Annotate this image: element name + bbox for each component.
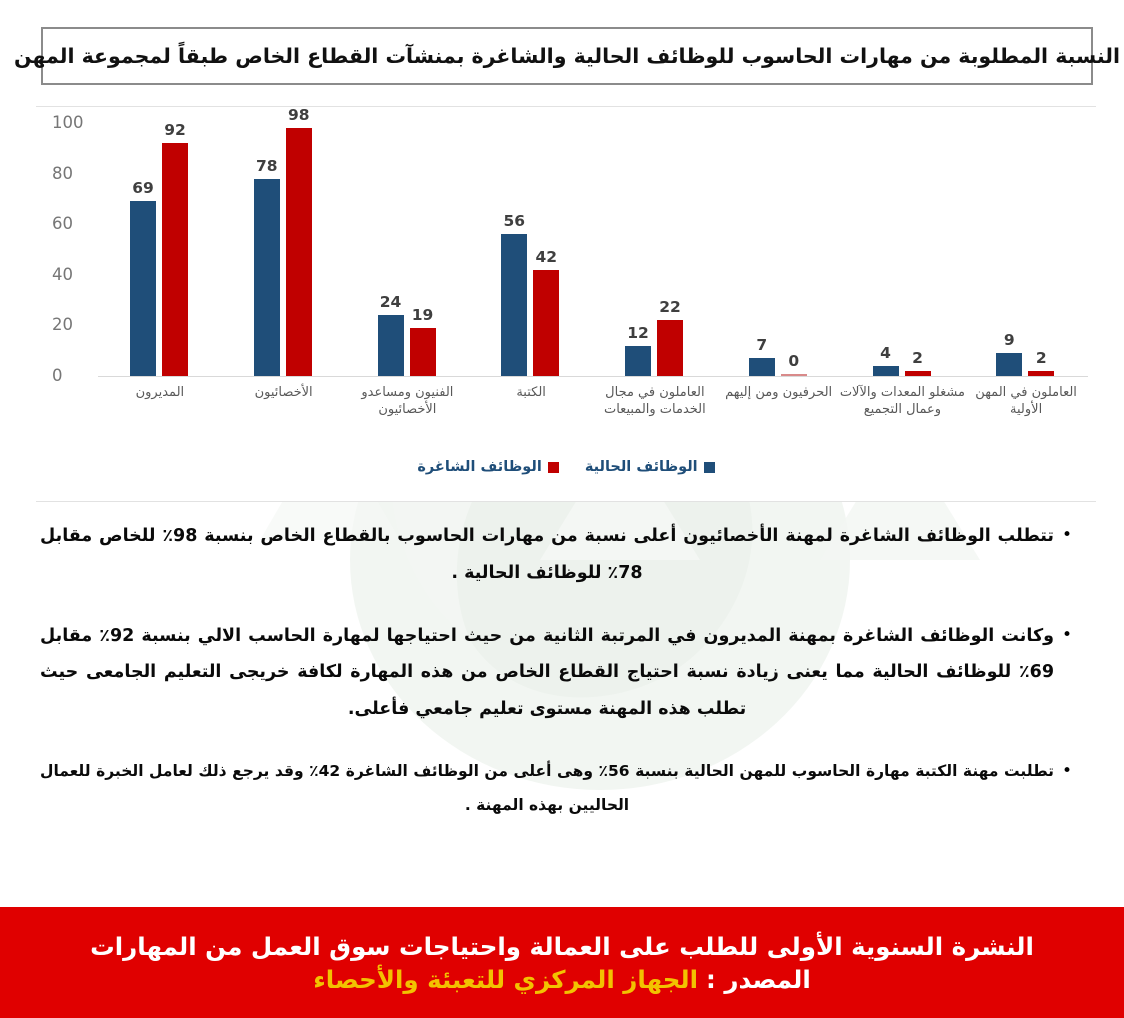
footer-headline: النشرة السنوية الأولى للطلب على العمالة … [90,932,1034,961]
legend-swatch-current [704,462,715,473]
y-axis-tick: 100 [52,113,96,132]
axis-baseline [98,376,1088,377]
x-axis-category-label: الحرفيون ومن إليهم [711,385,847,402]
bar-current-jobs[interactable] [254,179,280,376]
footer-source-row: المصدر : الجهاز المركزي للتعبئة والأحصاء [313,965,811,994]
x-axis-category-label: العاملون في مجال الخدمات والمبيعات [587,385,723,418]
bar-current-jobs[interactable] [625,346,651,376]
bar-vacant-jobs[interactable] [286,128,312,376]
bar-group: 6992 [98,123,222,376]
y-axis-tick: 20 [52,315,96,334]
bar-wrapper: 98 [286,123,312,376]
bar-wrapper: 42 [533,123,559,376]
footer-source-value: الجهاز المركزي للتعبئة والأحصاء [313,965,698,994]
legend-label: الوظائف الشاغرة [417,459,541,475]
chart-legend: الوظائف الحاليةالوظائف الشاغرة [36,459,1096,475]
slide-title-box: النسبة المطلوبة من مهارات الحاسوب للوظائ… [41,27,1093,85]
bar-group: 42 [841,123,965,376]
bar-value-label: 22 [647,298,693,316]
bullet-marker-icon: • [1054,618,1080,644]
bar-current-jobs[interactable] [130,201,156,376]
bar-wrapper: 92 [162,123,188,376]
x-axis-category-label: الفنيون ومساعدو الأخصائيون [340,385,476,418]
bar-wrapper: 2 [905,123,931,376]
bar-group: 70 [717,123,841,376]
bar-wrapper: 78 [254,123,280,376]
slide-title: النسبة المطلوبة من مهارات الحاسوب للوظائ… [14,44,1120,68]
bar-value-label: 69 [120,179,166,197]
bar-group: 7898 [222,123,346,376]
bar-current-jobs[interactable] [873,366,899,376]
bar-value-label: 12 [615,324,661,342]
x-axis-category-label: الأخصائيون [216,385,352,402]
bullet-text: تطلبت مهنة الكتبة مهارة الحاسوب للمهن ال… [40,754,1054,822]
footer-source-label: المصدر : [706,965,811,994]
legend-item[interactable]: الوظائف الشاغرة [417,459,558,475]
y-axis-tick: 60 [52,214,96,233]
bullet-marker-icon: • [1054,754,1080,780]
bar-value-label: 92 [152,121,198,139]
bar-value-label: 0 [771,352,817,370]
bar-value-label: 78 [244,157,290,175]
bullet-item: •تطلبت مهنة الكتبة مهارة الحاسوب للمهن ا… [40,754,1080,822]
bar-wrapper: 12 [625,123,651,376]
bullet-list: •تتطلب الوظائف الشاغرة لمهنة الأخصائيون … [40,518,1080,848]
legend-swatch-vacant [548,462,559,473]
bullet-text: تتطلب الوظائف الشاغرة لمهنة الأخصائيون أ… [40,518,1054,592]
footer-banner: النشرة السنوية الأولى للطلب على العمالة … [0,907,1124,1018]
bar-group: 5642 [469,123,593,376]
bar-vacant-jobs[interactable] [410,328,436,376]
x-axis-category-label: الكتبة [463,385,599,402]
bar-value-label: 2 [1018,349,1064,367]
bar-wrapper: 9 [996,123,1022,376]
bar-group: 92 [964,123,1088,376]
bar-vacant-jobs[interactable] [533,270,559,376]
bullet-marker-icon: • [1054,518,1080,544]
bullet-text: وكانت الوظائف الشاغرة بمهنة المديرون في … [40,618,1054,728]
bar-wrapper: 0 [781,123,807,376]
legend-label: الوظائف الحالية [585,459,698,475]
bar-wrapper: 4 [873,123,899,376]
bar-wrapper: 2 [1028,123,1054,376]
bar-value-label: 42 [523,248,569,266]
bar-wrapper: 69 [130,123,156,376]
bar-chart: 69927898241956421222704292 الوظائف الحال… [36,106,1096,502]
bar-wrapper: 19 [410,123,436,376]
y-axis-tick: 80 [52,164,96,183]
bar-group: 2419 [346,123,470,376]
y-axis-tick: 0 [52,366,96,385]
bar-vacant-jobs[interactable] [162,143,188,376]
bar-current-jobs[interactable] [378,315,404,376]
x-axis-category-label: مشغلو المعدات والآلات وعمال التجميع [835,385,971,418]
bar-vacant-jobs[interactable] [657,320,683,376]
bar-value-label: 2 [895,349,941,367]
y-axis-tick: 40 [52,265,96,284]
bar-group: 1222 [593,123,717,376]
x-axis-category-label: المديرون [92,385,228,402]
bar-value-label: 56 [491,212,537,230]
x-axis-category-label: العاملون في المهن الأولية [958,385,1094,418]
bullet-item: •تتطلب الوظائف الشاغرة لمهنة الأخصائيون … [40,518,1080,592]
bar-wrapper: 7 [749,123,775,376]
bar-value-label: 9 [986,331,1032,349]
bar-value-label: 19 [400,306,446,324]
legend-item[interactable]: الوظائف الحالية [585,459,715,475]
plot-area: 69927898241956421222704292 [98,123,1088,376]
bar-wrapper: 24 [378,123,404,376]
bullet-item: •وكانت الوظائف الشاغرة بمهنة المديرون في… [40,618,1080,728]
bar-wrapper: 22 [657,123,683,376]
bar-value-label: 98 [276,106,322,124]
